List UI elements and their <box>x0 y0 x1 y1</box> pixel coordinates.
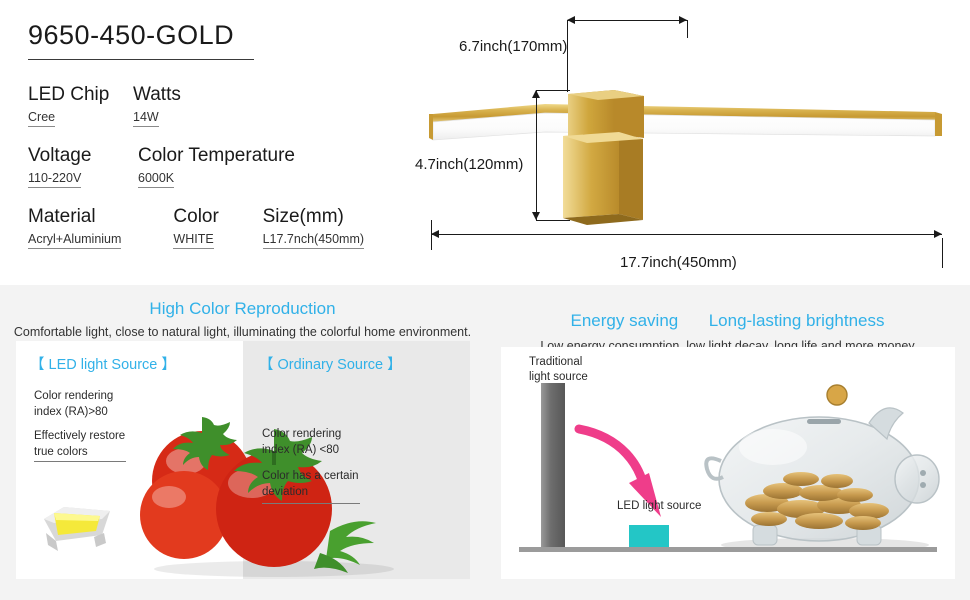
chart-baseline <box>519 547 937 552</box>
dim-left-bottom-extension <box>536 220 570 221</box>
spec-item-color-temperature: Color Temperature 6000K <box>138 145 328 188</box>
spec-label: Color <box>173 206 262 228</box>
product-spec-section: 9650-450-GOLD LED Chip Cree Watts 14W Vo… <box>0 0 970 285</box>
piggy-bank-illustration <box>697 375 947 553</box>
spec-item-color: Color WHITE <box>173 206 262 249</box>
dim-top-right-arrow <box>679 16 687 24</box>
led-chip-icon <box>36 489 118 555</box>
dim-bottom-line <box>431 234 942 235</box>
dim-top-line <box>567 20 687 21</box>
spec-value: Cree <box>28 110 55 127</box>
dim-bottom-left-arrow <box>431 230 439 238</box>
spec-label: Voltage <box>28 145 138 167</box>
ordinary-source-title: 【 Ordinary Source 】 <box>259 353 402 374</box>
ordinary-source-line-1: Color rendering index (RA) <80 <box>262 427 341 458</box>
dim-left-line <box>536 90 537 220</box>
spec-value: L17.7nch(450mm) <box>263 232 364 249</box>
spec-row: Material Acryl+Aluminium Color WHITE Siz… <box>28 206 408 249</box>
page-title: 9650-450-GOLD <box>28 20 254 60</box>
dim-left-top-extension <box>536 90 570 91</box>
right-panel-heading-1: Energy saving <box>571 311 679 331</box>
right-panel-heading-2: Long-lasting brightness <box>709 311 885 331</box>
left-panel-heading: High Color Reproduction <box>0 299 485 319</box>
dim-top-label: 6.7inch(170mm) <box>459 38 567 55</box>
led-source-line-1: Color rendering index (RA)>80 <box>34 389 113 420</box>
spec-label: Material <box>28 206 173 228</box>
led-source-underline <box>34 461 126 462</box>
dimension-diagram: 6.7inch(170mm) 4.7inch(120mm) 17.7inch(4… <box>415 8 960 283</box>
left-panel-subheading: Comfortable light, close to natural ligh… <box>0 325 485 339</box>
dim-bottom-right-arrow <box>934 230 942 238</box>
spec-panel: 9650-450-GOLD LED Chip Cree Watts 14W Vo… <box>28 20 408 249</box>
energy-comparison-chart: Traditional light source LED light sourc… <box>501 347 955 579</box>
dim-left-up-arrow <box>532 90 540 98</box>
dim-bottom-right-extension <box>942 238 943 268</box>
spec-value: 14W <box>133 110 159 127</box>
dim-left-label: 4.7inch(120mm) <box>415 156 523 173</box>
spec-row: LED Chip Cree Watts 14W <box>28 84 408 127</box>
dim-top-left-extension <box>567 20 568 92</box>
energy-saving-panel: Energy saving Long-lasting brightness Lo… <box>485 285 970 600</box>
spec-label: Color Temperature <box>138 145 328 167</box>
comparison-image: 【 LED light Source 】 Color rendering ind… <box>16 341 470 579</box>
spec-item-material: Material Acryl+Aluminium <box>28 206 173 249</box>
bar-traditional <box>541 383 565 547</box>
spec-value: Acryl+Aluminium <box>28 232 121 249</box>
right-panel-heading-row: Energy saving Long-lasting brightness <box>485 311 970 331</box>
spec-label: Watts <box>133 84 323 106</box>
bar-led <box>629 525 669 547</box>
spec-item-size: Size(mm) L17.7nch(450mm) <box>263 206 408 249</box>
ordinary-source-underline <box>262 503 360 504</box>
dim-top-right-extension <box>687 20 688 38</box>
features-section: High Color Reproduction Comfortable ligh… <box>0 285 970 600</box>
spec-item-voltage: Voltage 110-220V <box>28 145 138 188</box>
spec-label: LED Chip <box>28 84 133 106</box>
spec-label: Size(mm) <box>263 206 408 228</box>
dim-left-down-arrow <box>532 212 540 220</box>
ordinary-source-line-2: Color has a certain deviation <box>262 469 359 500</box>
dim-top-left-arrow <box>567 16 575 24</box>
led-source-title: 【 LED light Source 】 <box>30 353 176 374</box>
chart-label-led: LED light source <box>617 499 701 514</box>
chart-label-traditional: Traditional light source <box>529 355 588 385</box>
spec-value: WHITE <box>173 232 213 249</box>
spec-value: 6000K <box>138 171 174 188</box>
spec-item-led-chip: LED Chip Cree <box>28 84 133 127</box>
spec-item-watts: Watts 14W <box>133 84 323 127</box>
color-reproduction-panel: High Color Reproduction Comfortable ligh… <box>0 285 485 600</box>
spec-row: Voltage 110-220V Color Temperature 6000K <box>28 145 408 188</box>
spec-value: 110-220V <box>28 171 81 188</box>
led-source-line-2: Effectively restore true colors <box>34 429 125 460</box>
dim-bottom-label: 17.7inch(450mm) <box>620 254 737 271</box>
